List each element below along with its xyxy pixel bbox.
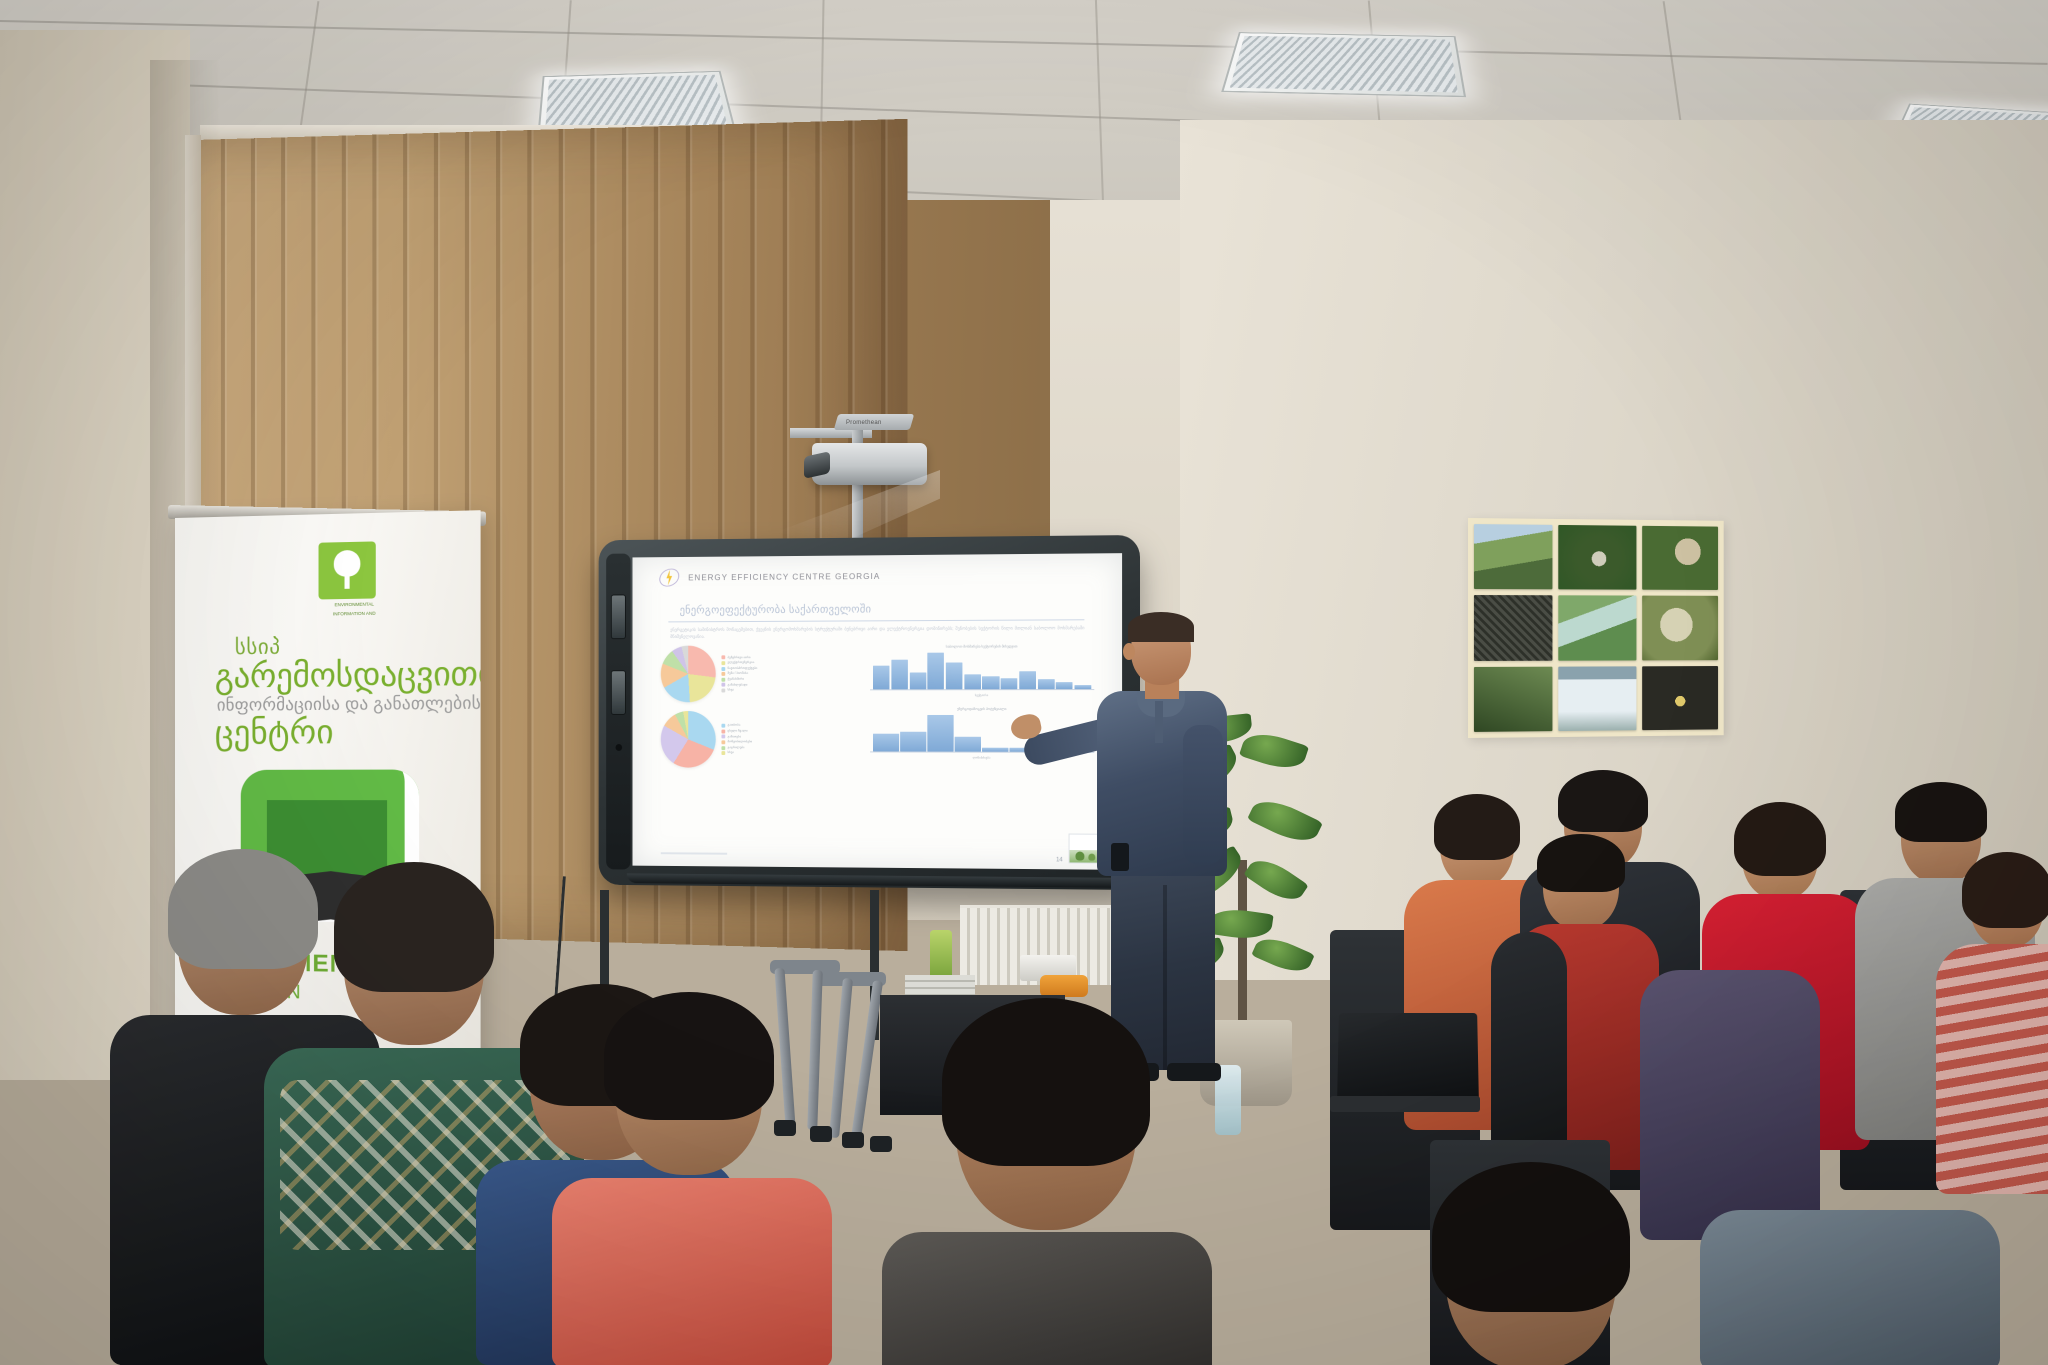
whiteboard-pen-tray (627, 873, 1120, 887)
legend-label: სხვა (728, 688, 734, 693)
bar-chart-1-block: საბოლოო მოხმარება სექტორების მიხედვით (870, 644, 1094, 697)
bar-chart-1 (870, 650, 1094, 690)
ceiling-mounted-projector (812, 443, 927, 485)
banner-logo-caption-2: INFORMATION AND (319, 610, 391, 617)
room-scene: ENVIRONMENTAL INFORMATION AND სსიპ გარემ… (0, 0, 2048, 1365)
pie-chart-2 (661, 711, 716, 768)
torso (882, 1232, 1212, 1365)
bar-chart-1-title: საბოლოო მოხმარება სექტორების მიხედვით (870, 644, 1094, 649)
projected-slide: ENERGY EFFICIENCY CENTRE GEORGIA ენერგოე… (632, 553, 1122, 870)
hair (1734, 802, 1826, 876)
attendee-front-right-dark (1380, 1180, 1670, 1365)
energy-swirl-logo-icon (657, 565, 682, 591)
photo-dense-forest-canopy (1474, 595, 1553, 660)
bar-chart-2-title: ენერგოდაზოგვის პოტენციალი (870, 707, 1094, 711)
ceiling-light-2 (1221, 32, 1466, 97)
banner-title-line1: გარემოსდაცვითი (215, 656, 481, 693)
banner-logo: ENVIRONMENTAL INFORMATION AND (319, 541, 391, 617)
bar-chart-1-xlabel: სექტორი (870, 693, 1094, 697)
attendee-front-center-coral (570, 1010, 810, 1365)
whiteboard-indicator-dot (616, 744, 623, 751)
attendee-back-right (1700, 1190, 2000, 1365)
whiteboard-screen[interactable]: ENERGY EFFICIENCY CENTRE GEORGIA ენერგოე… (632, 553, 1122, 870)
banner-title-line3: ცენტრი (215, 715, 334, 749)
slide-page-number: 14 (1056, 857, 1063, 863)
photo-night-lights-road (1642, 666, 1718, 730)
slide-divider (668, 619, 1084, 622)
slide-footnote-rule (661, 852, 727, 854)
photo-meandering-river (1559, 596, 1636, 661)
attendee-woman-striped (1940, 860, 2048, 1190)
laptop-keyboard[interactable] (1330, 1096, 1480, 1112)
slide-body-text: ენერგეტიკის სამინისტროს მონაცემებით, ქვე… (670, 625, 1084, 640)
pie-chart-2-block: გათბობა ცხელი წყალი განათება მოწყობილობე… (661, 711, 863, 768)
hair (1895, 782, 1987, 842)
hair (1537, 834, 1625, 892)
banner-title-line2: ინფორმაციისა და განათლების (217, 693, 481, 715)
projector-brand-label: Promethean (846, 420, 882, 426)
hair (1962, 852, 2048, 928)
pie-chart-1 (661, 646, 716, 703)
photo-aerial-cliff-ridge (1642, 526, 1718, 590)
photo-rocky-alpine-terrain (1642, 596, 1718, 660)
slide-pie-column: ბუნებრივი აირი ელექტროენერგია ნავთობპროდ… (661, 645, 863, 777)
pie-chart-2-legend: გათბობა ცხელი წყალი განათება მოწყობილობე… (721, 723, 752, 756)
whiteboard-button-column[interactable] (606, 554, 630, 870)
photo-aerial-green-valley (1474, 524, 1553, 590)
photo-waterfall-mist (1559, 666, 1636, 731)
hair (1432, 1162, 1630, 1312)
hair (1558, 770, 1648, 832)
torso (552, 1178, 832, 1365)
hair (604, 992, 774, 1120)
presenter-placket (1155, 701, 1163, 743)
hair (942, 998, 1150, 1166)
jacket-overlay (1491, 932, 1567, 1172)
torso (1936, 944, 2048, 1194)
stacked-books (905, 975, 975, 997)
torso (1700, 1210, 2000, 1365)
slide-heading: ენერგოეფექტურობა საქართველოში (680, 601, 1112, 616)
presenter-right-arm (1183, 725, 1223, 865)
tree-logo-icon (319, 541, 376, 599)
photo-aerial-rock-outcrop (1559, 525, 1636, 590)
projector-lens (804, 451, 830, 479)
pie-chart-1-block: ბუნებრივი აირი ელექტროენერგია ნავთობპროდ… (661, 645, 863, 702)
slide-header-title: ENERGY EFFICIENCY CENTRE GEORGIA (688, 571, 880, 582)
whiteboard-button-1[interactable] (611, 594, 626, 639)
whiteboard-button-2[interactable] (611, 670, 626, 715)
hair (334, 862, 494, 992)
slide-header: ENERGY EFFICIENCY CENTRE GEORGIA (642, 561, 1112, 590)
presentation-clicker (1111, 843, 1129, 871)
laptop-screen[interactable] (1337, 1013, 1479, 1100)
presenter-hair (1128, 612, 1194, 642)
presenter-ear (1123, 643, 1135, 660)
interactive-whiteboard[interactable]: ENERGY EFFICIENCY CENTRE GEORGIA ენერგოე… (599, 535, 1140, 890)
nature-photo-grid (1468, 518, 1724, 738)
photo-forested-hillside (1474, 666, 1553, 732)
legend-label: სხვა (728, 751, 734, 756)
pie-chart-1-legend: ბუნებრივი აირი ელექტროენერგია ნავთობპროდ… (721, 655, 757, 693)
banner-logo-caption-1: ENVIRONMENTAL (319, 601, 391, 608)
attendee-bottom-center (900, 1020, 1190, 1365)
